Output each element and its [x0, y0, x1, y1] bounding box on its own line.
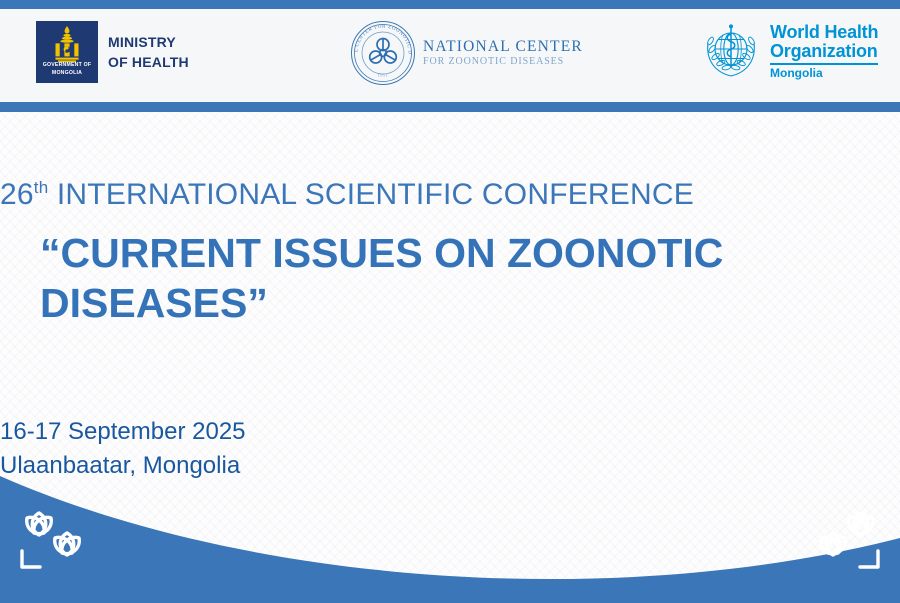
conference-number: 26 — [0, 178, 34, 211]
who-line1: World Health — [770, 23, 878, 41]
nczd-logo: NATIONAL CENTER FOR ZOONOTIC DISEASES 19… — [350, 20, 583, 86]
conference-title-rest: INTERNATIONAL SCIENTIFIC CONFERENCE — [48, 178, 694, 211]
conference-number-line: 26th INTERNATIONAL SCIENTIFIC CONFERENCE — [0, 178, 900, 212]
nczd-seal-icon: NATIONAL CENTER FOR ZOONOTIC DISEASES 19… — [350, 20, 416, 86]
who-line2: Organization — [770, 42, 878, 60]
footer-wave-decoration — [0, 468, 900, 603]
who-emblem-icon — [700, 21, 762, 81]
ministry-line2: OF HEALTH — [108, 52, 189, 72]
mongolia-state-emblem-icon: GOVERNMENT OF MONGOLIA — [36, 21, 98, 83]
page-title: “CURRENT ISSUES ON ZOONOTIC DISEASES” — [0, 228, 900, 328]
mongolian-knot-ornament-right — [792, 507, 884, 575]
ministry-line1: MINISTRY — [108, 32, 189, 52]
conference-title-slide: GOVERNMENT OF MONGOLIA MINISTRY OF HEALT… — [0, 0, 900, 603]
nczd-line2: FOR ZOONOTIC DISEASES — [423, 56, 583, 68]
nczd-line1: NATIONAL CENTER — [423, 38, 583, 56]
who-divider — [770, 63, 878, 65]
event-date: 16-17 September 2025 — [0, 415, 900, 449]
ministry-of-health-wordmark: MINISTRY OF HEALTH — [108, 32, 189, 73]
emblem-caption: GOVERNMENT OF MONGOLIA — [36, 62, 98, 78]
who-logo: World Health Organization Mongolia — [700, 21, 878, 81]
who-wordmark: World Health Organization Mongolia — [770, 23, 878, 79]
mongolian-knot-ornament-left — [16, 507, 108, 575]
who-country-label: Mongolia — [770, 67, 878, 79]
conference-ordinal: th — [34, 178, 49, 197]
top-accent-bar — [0, 0, 900, 9]
ministry-of-health-logo: GOVERNMENT OF MONGOLIA MINISTRY OF HEALT… — [36, 21, 189, 83]
emblem-caption-line1: GOVERNMENT OF — [36, 62, 98, 70]
svg-text:1951: 1951 — [378, 73, 389, 78]
nczd-wordmark: NATIONAL CENTER FOR ZOONOTIC DISEASES — [423, 38, 583, 67]
header-accent-bar — [0, 102, 900, 112]
emblem-caption-line2: MONGOLIA — [36, 70, 98, 78]
